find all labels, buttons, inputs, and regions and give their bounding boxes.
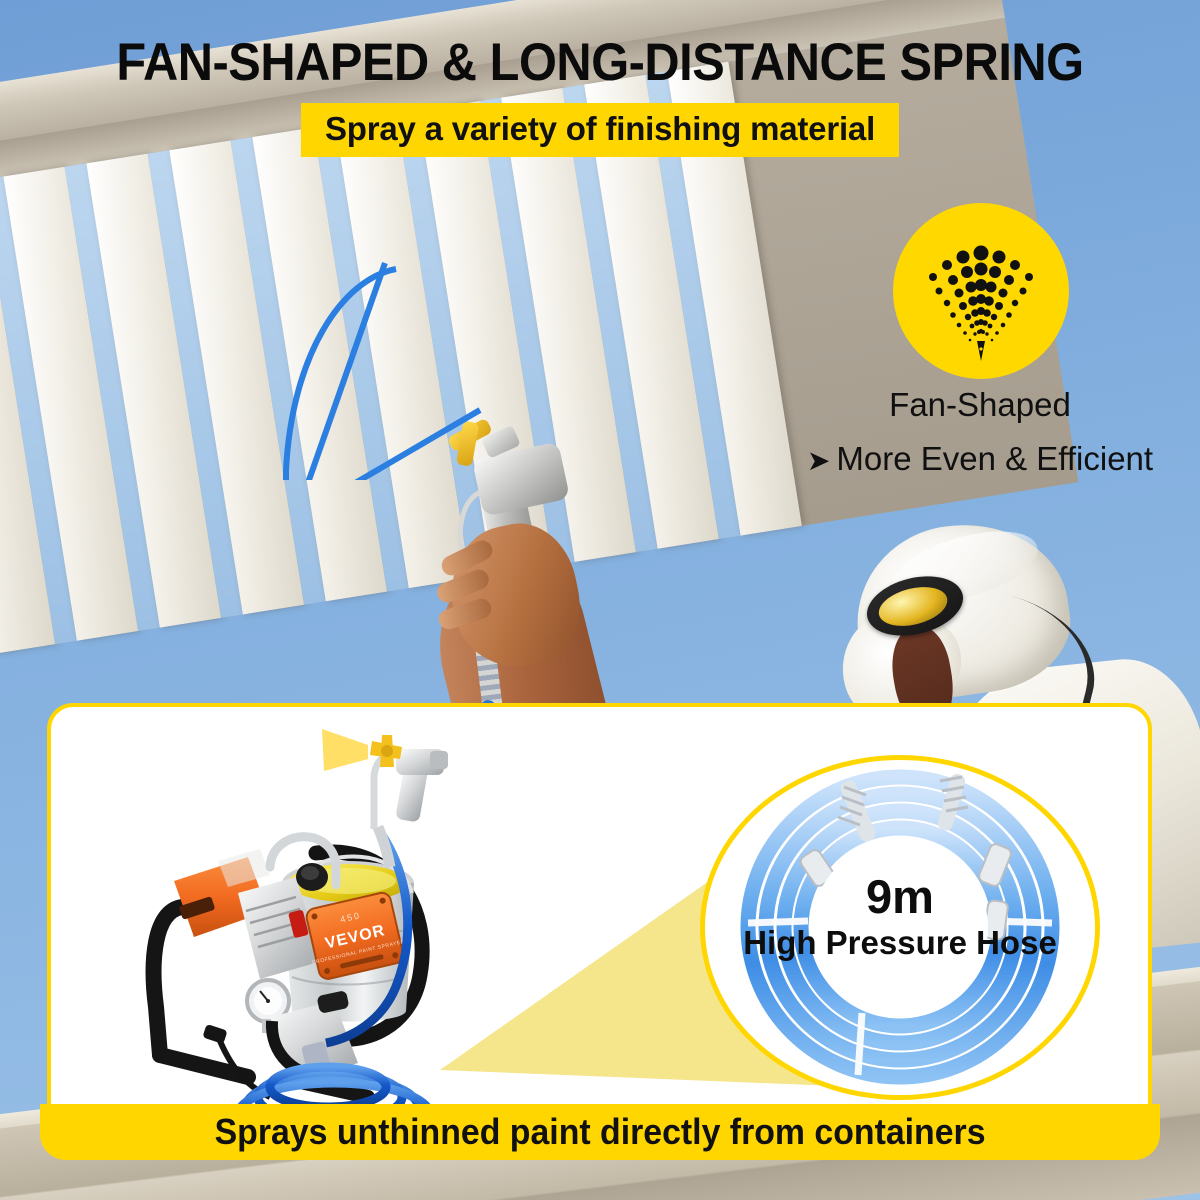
fan-badge-label: Fan-Shaped [760, 386, 1200, 424]
spray-fan-dots-icon [893, 203, 1069, 379]
fan-badge-benefit: More Even & Efficient [836, 440, 1153, 477]
fan-shaped-badge [893, 203, 1069, 379]
high-pressure-hose-image: 9m High Pressure Hose [700, 755, 1100, 1100]
goggle-strap [940, 584, 1111, 722]
product-infographic: FAN-SHAPED & LONG-DISTANCE SPRING Spray … [0, 0, 1200, 1200]
page-title: FAN-SHAPED & LONG-DISTANCE SPRING [48, 32, 1152, 93]
fan-badge-benefit-row: ➤More Even & Efficient [755, 440, 1200, 478]
goggle-lens [875, 581, 952, 633]
airless-paint-sprayer-image: 450 VEVOR PROFESSIONAL PAINT SPRAYER [120, 725, 540, 1145]
fan-angle-annotation [250, 235, 590, 480]
bottom-banner-text: Sprays unthinned paint directly from con… [215, 1111, 986, 1153]
bottom-banner: Sprays unthinned paint directly from con… [40, 1104, 1160, 1160]
subtitle-banner: Spray a variety of finishing material [301, 103, 899, 157]
bullet-arrow-icon: ➤ [807, 445, 830, 476]
